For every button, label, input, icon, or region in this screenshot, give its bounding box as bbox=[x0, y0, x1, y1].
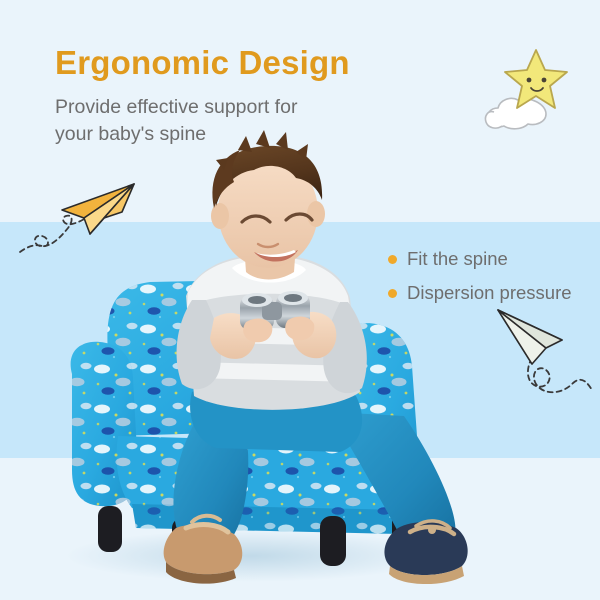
list-item-label: Dispersion pressure bbox=[407, 282, 572, 304]
product-feature-banner: Ergonomic Design Provide effective suppo… bbox=[0, 0, 600, 600]
page-title: Ergonomic Design bbox=[55, 44, 350, 82]
list-item-label: Fit the spine bbox=[407, 248, 508, 270]
bullet-dot-icon bbox=[388, 255, 397, 264]
star-cloud-icon bbox=[484, 38, 588, 134]
paper-plane-green-icon bbox=[492, 306, 598, 406]
subtitle-line-1: Provide effective support for bbox=[55, 94, 385, 121]
subtitle: Provide effective support for your baby'… bbox=[55, 94, 385, 148]
list-item: Dispersion pressure bbox=[388, 282, 593, 304]
paper-plane-orange-icon bbox=[18, 176, 138, 258]
bullet-dot-icon bbox=[388, 289, 397, 298]
list-item: Fit the spine bbox=[388, 248, 593, 270]
subtitle-line-2: your baby's spine bbox=[55, 121, 385, 148]
